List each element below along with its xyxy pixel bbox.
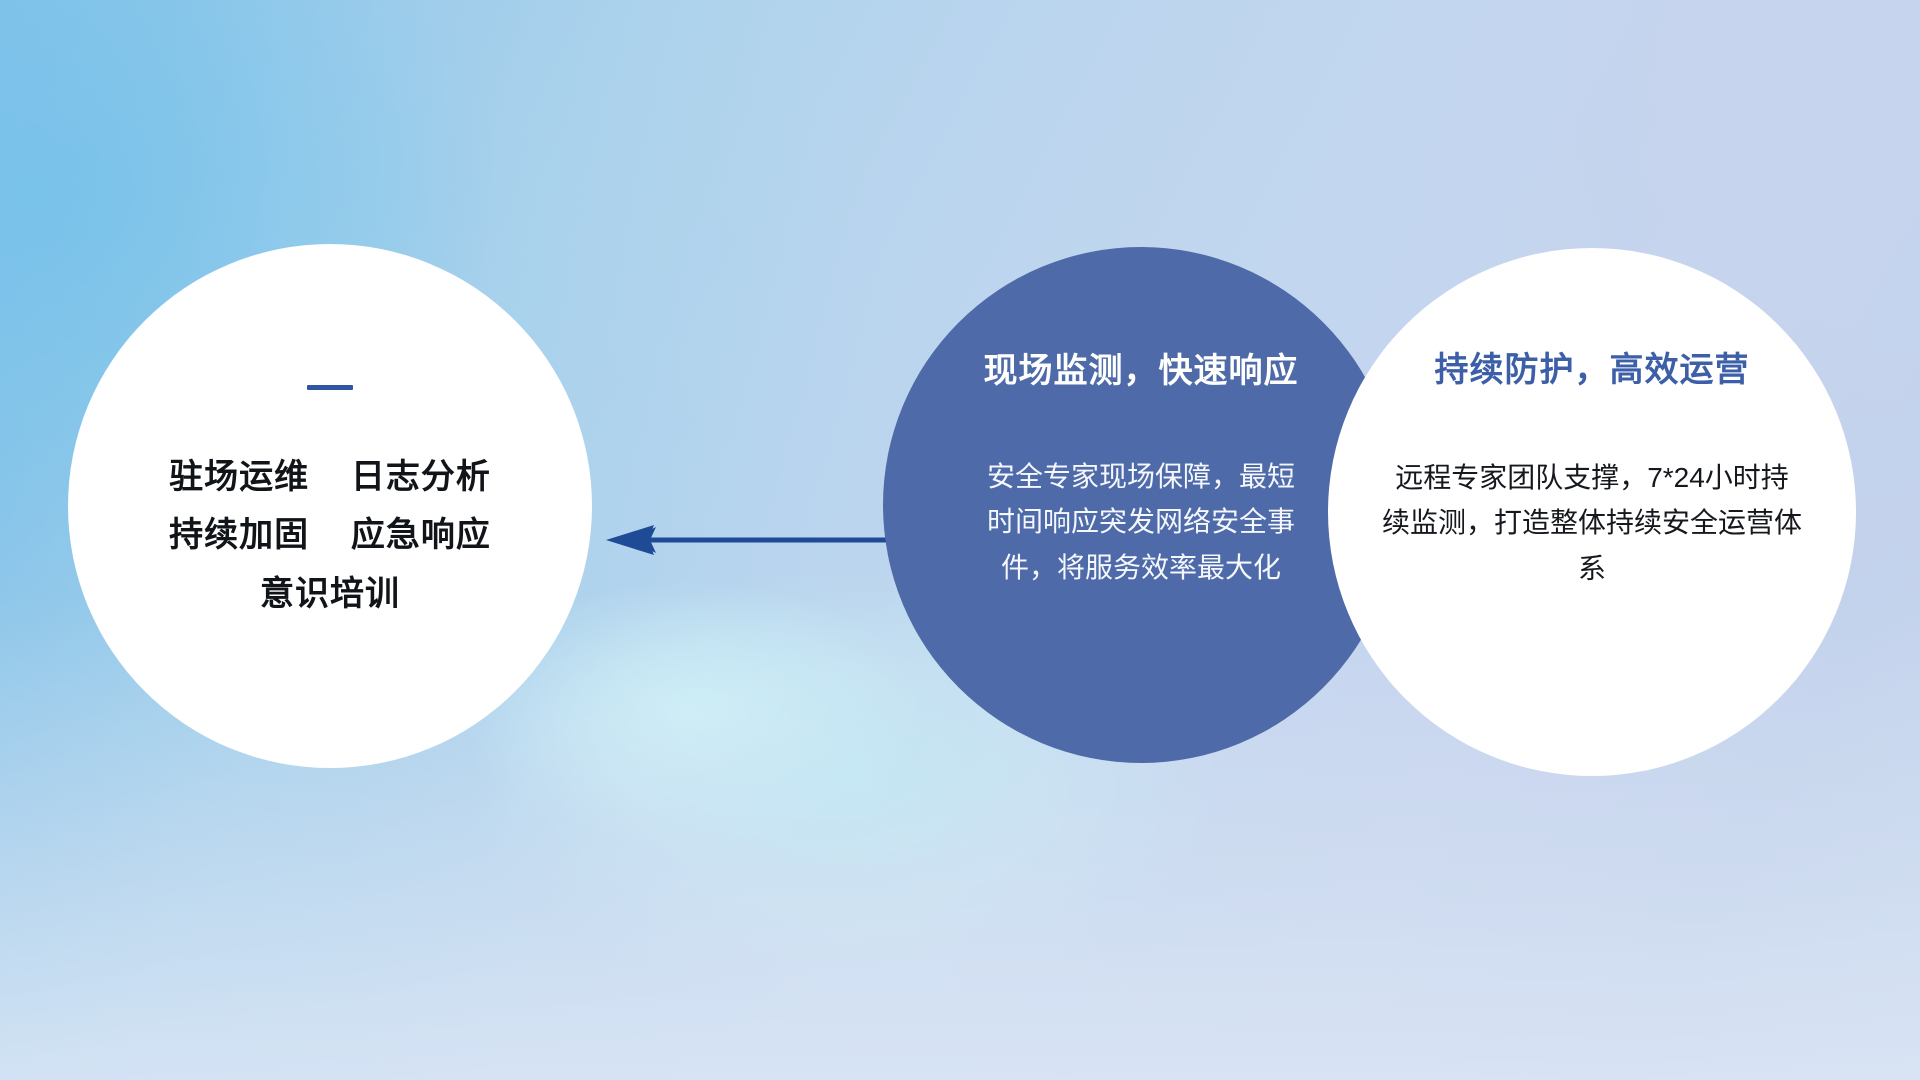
node-onsite-capabilities[interactable]: 驻场运维 日志分析 持续加固 应急响应 意识培训 xyxy=(68,244,592,768)
node-continuous-protection[interactable]: 持续防护，高效运营 远程专家团队支撑，7*24小时持续监测，打造整体持续安全运营… xyxy=(1328,248,1856,776)
node-title: 持续防护，高效运营 xyxy=(1435,342,1750,391)
node-body: 远程专家团队支撑，7*24小时持续监测，打造整体持续安全运营体系 xyxy=(1382,455,1802,591)
slide-canvas: 驻场运维 日志分析 持续加固 应急响应 意识培训 现场监测，快速响应 安全专家现… xyxy=(0,0,1920,1080)
node-title: 现场监测，快速响应 xyxy=(984,343,1299,392)
list-item: 驻场运维 日志分析 xyxy=(169,448,491,506)
list-item: 持续加固 应急响应 xyxy=(169,506,491,564)
connector-arrow xyxy=(596,512,892,568)
arrow-left-icon xyxy=(596,512,892,568)
node-onsite-monitoring[interactable]: 现场监测，快速响应 安全专家现场保障，最短时间响应突发网络安全事件，将服务效率最… xyxy=(883,247,1399,763)
list-item: 意识培训 xyxy=(169,565,491,623)
horizontal-dash-icon xyxy=(307,385,353,390)
capability-keyword-list: 驻场运维 日志分析 持续加固 应急响应 意识培训 xyxy=(169,448,491,623)
node-body: 安全专家现场保障，最短时间响应突发网络安全事件，将服务效率最大化 xyxy=(976,454,1306,590)
